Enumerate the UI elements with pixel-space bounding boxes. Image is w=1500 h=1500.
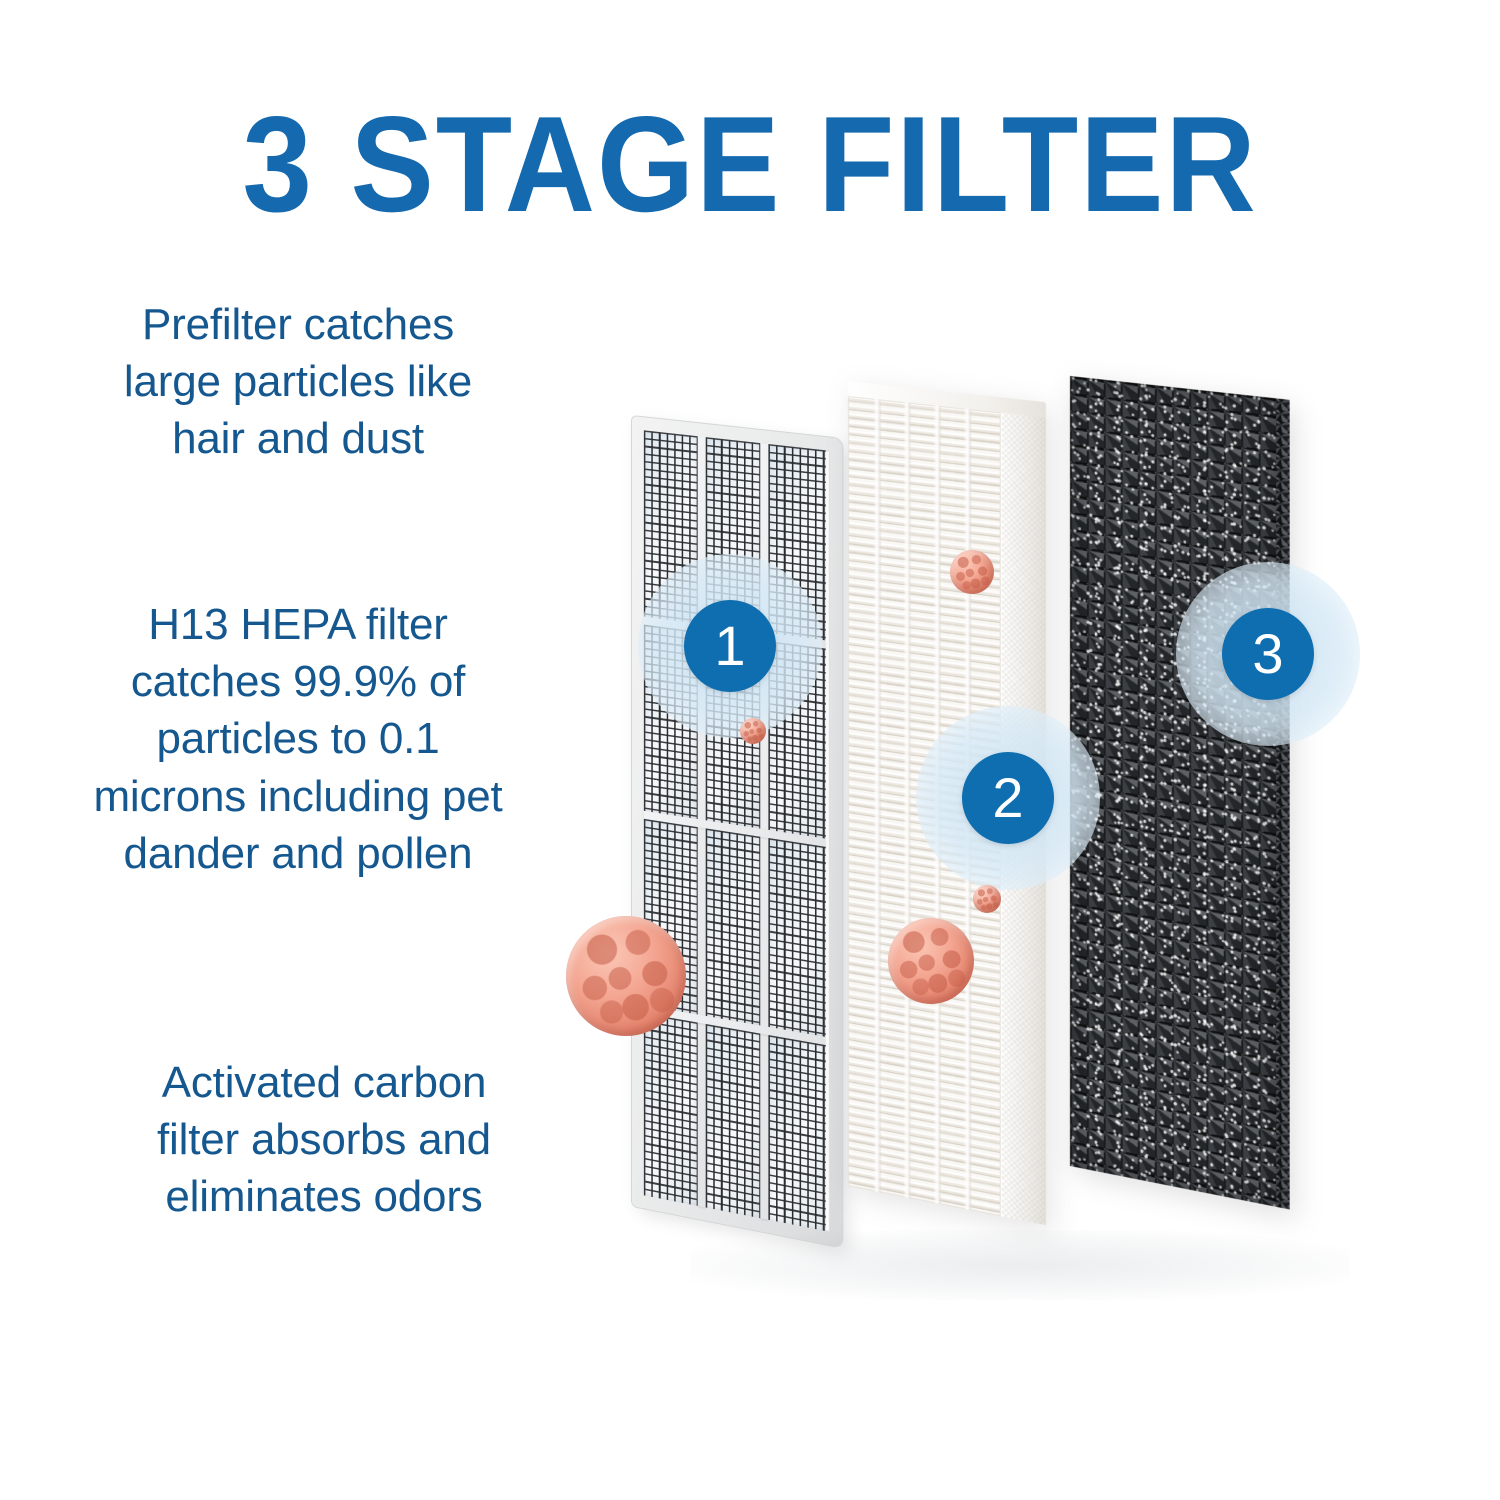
- pollen-pits: [888, 918, 974, 1004]
- pollen-pits: [566, 916, 686, 1036]
- prefilter-mesh-cell: [768, 838, 825, 1037]
- hepa-separator-bead: [934, 405, 941, 1204]
- pollen-pits: [950, 550, 994, 594]
- prefilter-mesh-cell: [644, 430, 698, 623]
- pollen-particle-medium: [888, 918, 974, 1004]
- stage-2-badge[interactable]: 2: [962, 752, 1054, 844]
- prefilter-mesh-cell: [768, 1035, 825, 1231]
- pollen-particle-large: [566, 916, 686, 1036]
- carbon-filter-panel: [1070, 376, 1276, 1207]
- ground-shadow: [690, 1230, 1350, 1300]
- prefilter-mesh-cell: [706, 1024, 761, 1218]
- prefilter-mesh-cell: [768, 444, 825, 640]
- carbon-side-edge: [1276, 398, 1289, 1209]
- prefilter-mesh-cell: [768, 641, 825, 839]
- prefilter-panel: [632, 416, 842, 1248]
- pollen-particle-small: [950, 550, 994, 594]
- carbon-granular-face: [1070, 376, 1276, 1207]
- hepa-separator-bead: [904, 402, 911, 1198]
- pollen-particle-tiny: [740, 718, 766, 744]
- filter-stack-illustration: 1 2 3: [0, 0, 1500, 1500]
- prefilter-mesh-well: [644, 430, 830, 1232]
- pollen-pits: [740, 718, 766, 744]
- prefilter-mesh-cell: [706, 828, 761, 1025]
- pollen-particle-tiny: [973, 885, 1001, 913]
- pollen-pits: [973, 885, 1001, 913]
- stage-1-badge[interactable]: 1: [684, 600, 776, 692]
- stage-3-badge[interactable]: 3: [1222, 608, 1314, 700]
- hepa-separator-bead: [874, 399, 881, 1193]
